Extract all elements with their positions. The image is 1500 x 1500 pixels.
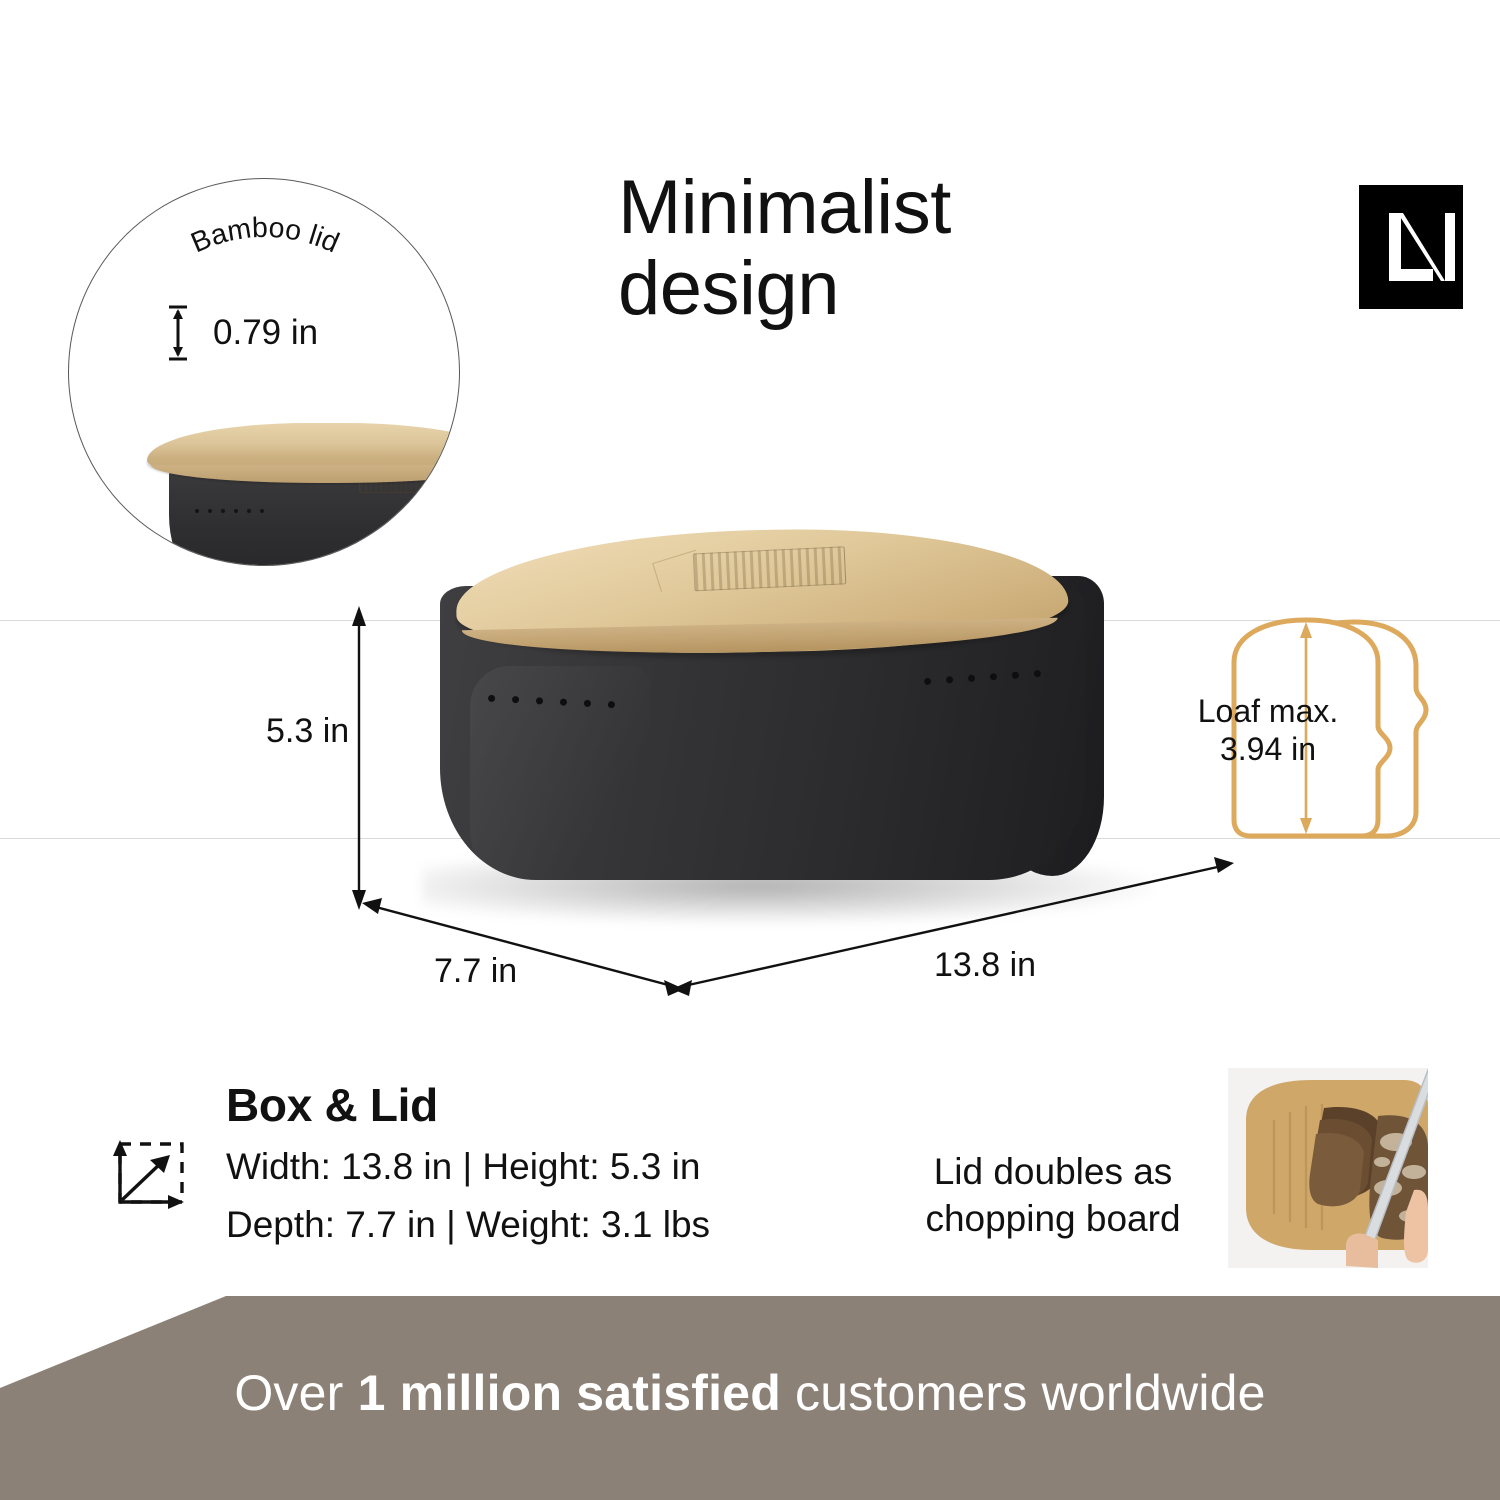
dimensions-arrows-icon xyxy=(106,1136,192,1224)
headline-line-1: Minimalist xyxy=(618,168,1258,249)
lid-thickness-row: 0.79 in xyxy=(165,303,425,363)
banner-suffix: customers worldwide xyxy=(781,1365,1266,1421)
lid-engraving-mark xyxy=(693,546,847,591)
chopping-board-photo xyxy=(1228,1068,1428,1268)
banner-prefix: Over xyxy=(234,1365,357,1421)
ln-monogram-icon xyxy=(1359,185,1463,309)
lid-thickness-value: 0.79 in xyxy=(213,313,318,353)
height-dimension-label: 5.3 in xyxy=(266,712,349,751)
chopping-board-line-2: chopping board xyxy=(905,1195,1201,1242)
headline-line-2: design xyxy=(618,249,1258,330)
spec-line-2: Depth: 7.7 in | Weight: 3.1 lbs xyxy=(226,1204,710,1246)
banner-message: Over 1 million satisfied customers world… xyxy=(0,1364,1500,1422)
inset-arc-text: Bamboo lid xyxy=(186,212,343,260)
page-title: Minimalist design xyxy=(618,168,1258,329)
vertical-double-arrow-icon xyxy=(165,303,191,363)
depth-dimension-label: 7.7 in xyxy=(434,952,517,991)
loaf-max-line-2: 3.94 in xyxy=(1188,730,1348,768)
bamboo-lid-inset: Bamboo lid 0.79 in xyxy=(68,178,460,566)
product-image-bread-box xyxy=(432,524,1132,920)
infographic-canvas: Minimalist design Bamboo lid 0.79 in xyxy=(0,0,1500,1500)
width-dimension-label: 13.8 in xyxy=(934,946,1036,985)
svg-text:Bamboo lid: Bamboo lid xyxy=(186,212,343,260)
brand-logo xyxy=(1359,185,1463,309)
inset-vent-holes-left xyxy=(195,509,264,513)
spec-line-1: Width: 13.8 in | Height: 5.3 in xyxy=(226,1146,700,1188)
spec-title: Box & Lid xyxy=(226,1078,438,1132)
inset-vent-holes-right xyxy=(429,499,460,503)
inset-product-illustration xyxy=(77,387,460,566)
bread-cutting-illustration xyxy=(1228,1068,1428,1268)
chopping-board-line-1: Lid doubles as xyxy=(905,1148,1201,1195)
chopping-board-label: Lid doubles as chopping board xyxy=(905,1148,1201,1243)
loaf-max-label: Loaf max. 3.94 in xyxy=(1188,692,1348,769)
banner-emphasis: 1 million satisfied xyxy=(358,1365,781,1421)
loaf-max-line-1: Loaf max. xyxy=(1188,692,1348,730)
